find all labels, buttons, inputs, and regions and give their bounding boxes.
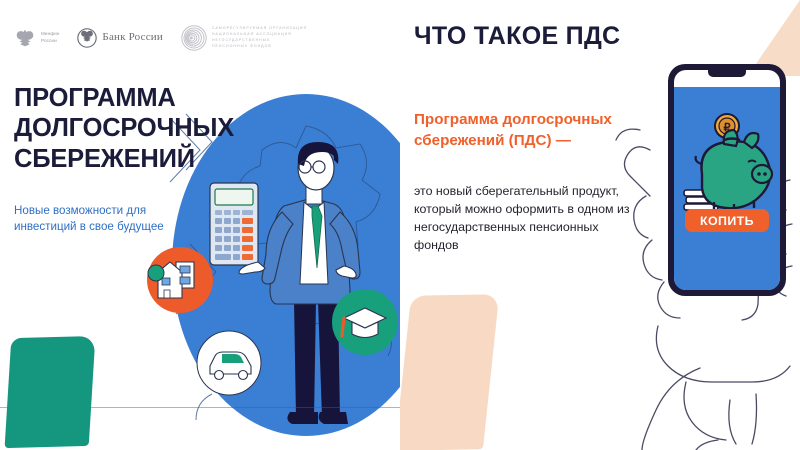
logo-sro-napf-label: САМОРЕГУЛИРУЕМАЯ ОРГАНИЗАЦИЯ НАЦИОНАЛЬНА… xyxy=(212,26,307,50)
poster-subtitle: Новые возможности для инвестиций в свое … xyxy=(14,203,204,236)
logo-row: Минфин России Банк России xyxy=(14,25,307,51)
logo-bank-rossii-label: Банк России xyxy=(102,30,163,46)
app-screen-body: ₽ xyxy=(674,87,780,290)
logo-bank-rossii: Банк России xyxy=(77,28,163,48)
poster-title: Программа долгосрочных сбережений xyxy=(14,83,344,174)
logo-minfin: Минфин России xyxy=(14,27,59,49)
teal-accent-shape xyxy=(5,336,96,448)
concentric-rings-emblem xyxy=(181,25,207,51)
education-badge xyxy=(332,289,398,355)
lead-paragraph: Программа долгосрочных сбережений (ПДС) … xyxy=(414,110,664,151)
double-headed-eagle-emblem xyxy=(14,27,36,49)
phone-screen: ₽ xyxy=(674,70,780,290)
phone-notch xyxy=(708,70,746,77)
page-title: ЧТО ТАКОЕ ПДС xyxy=(414,22,620,51)
slide-root: Минфин России Банк России xyxy=(0,0,800,450)
body-paragraph: это новый сберегательный продукт, которы… xyxy=(414,183,644,255)
logo-minfin-label: Минфин России xyxy=(41,31,59,44)
house-badge xyxy=(147,247,213,313)
calculator-icon xyxy=(210,183,258,265)
double-headed-eagle-emblem xyxy=(77,28,97,48)
save-money-button[interactable]: КОПИТЬ xyxy=(685,209,769,232)
left-poster-panel: Минфин России Банк России xyxy=(0,0,400,450)
car-badge xyxy=(197,331,261,395)
piggy-bank-icon xyxy=(696,130,772,212)
logo-sro-napf: САМОРЕГУЛИРУЕМАЯ ОРГАНИЗАЦИЯ НАЦИОНАЛЬНА… xyxy=(181,25,307,51)
right-content-panel: ЧТО ТАКОЕ ПДС Программа долгосрочных сбе… xyxy=(400,0,800,450)
smartphone-device: ₽ xyxy=(668,64,786,296)
